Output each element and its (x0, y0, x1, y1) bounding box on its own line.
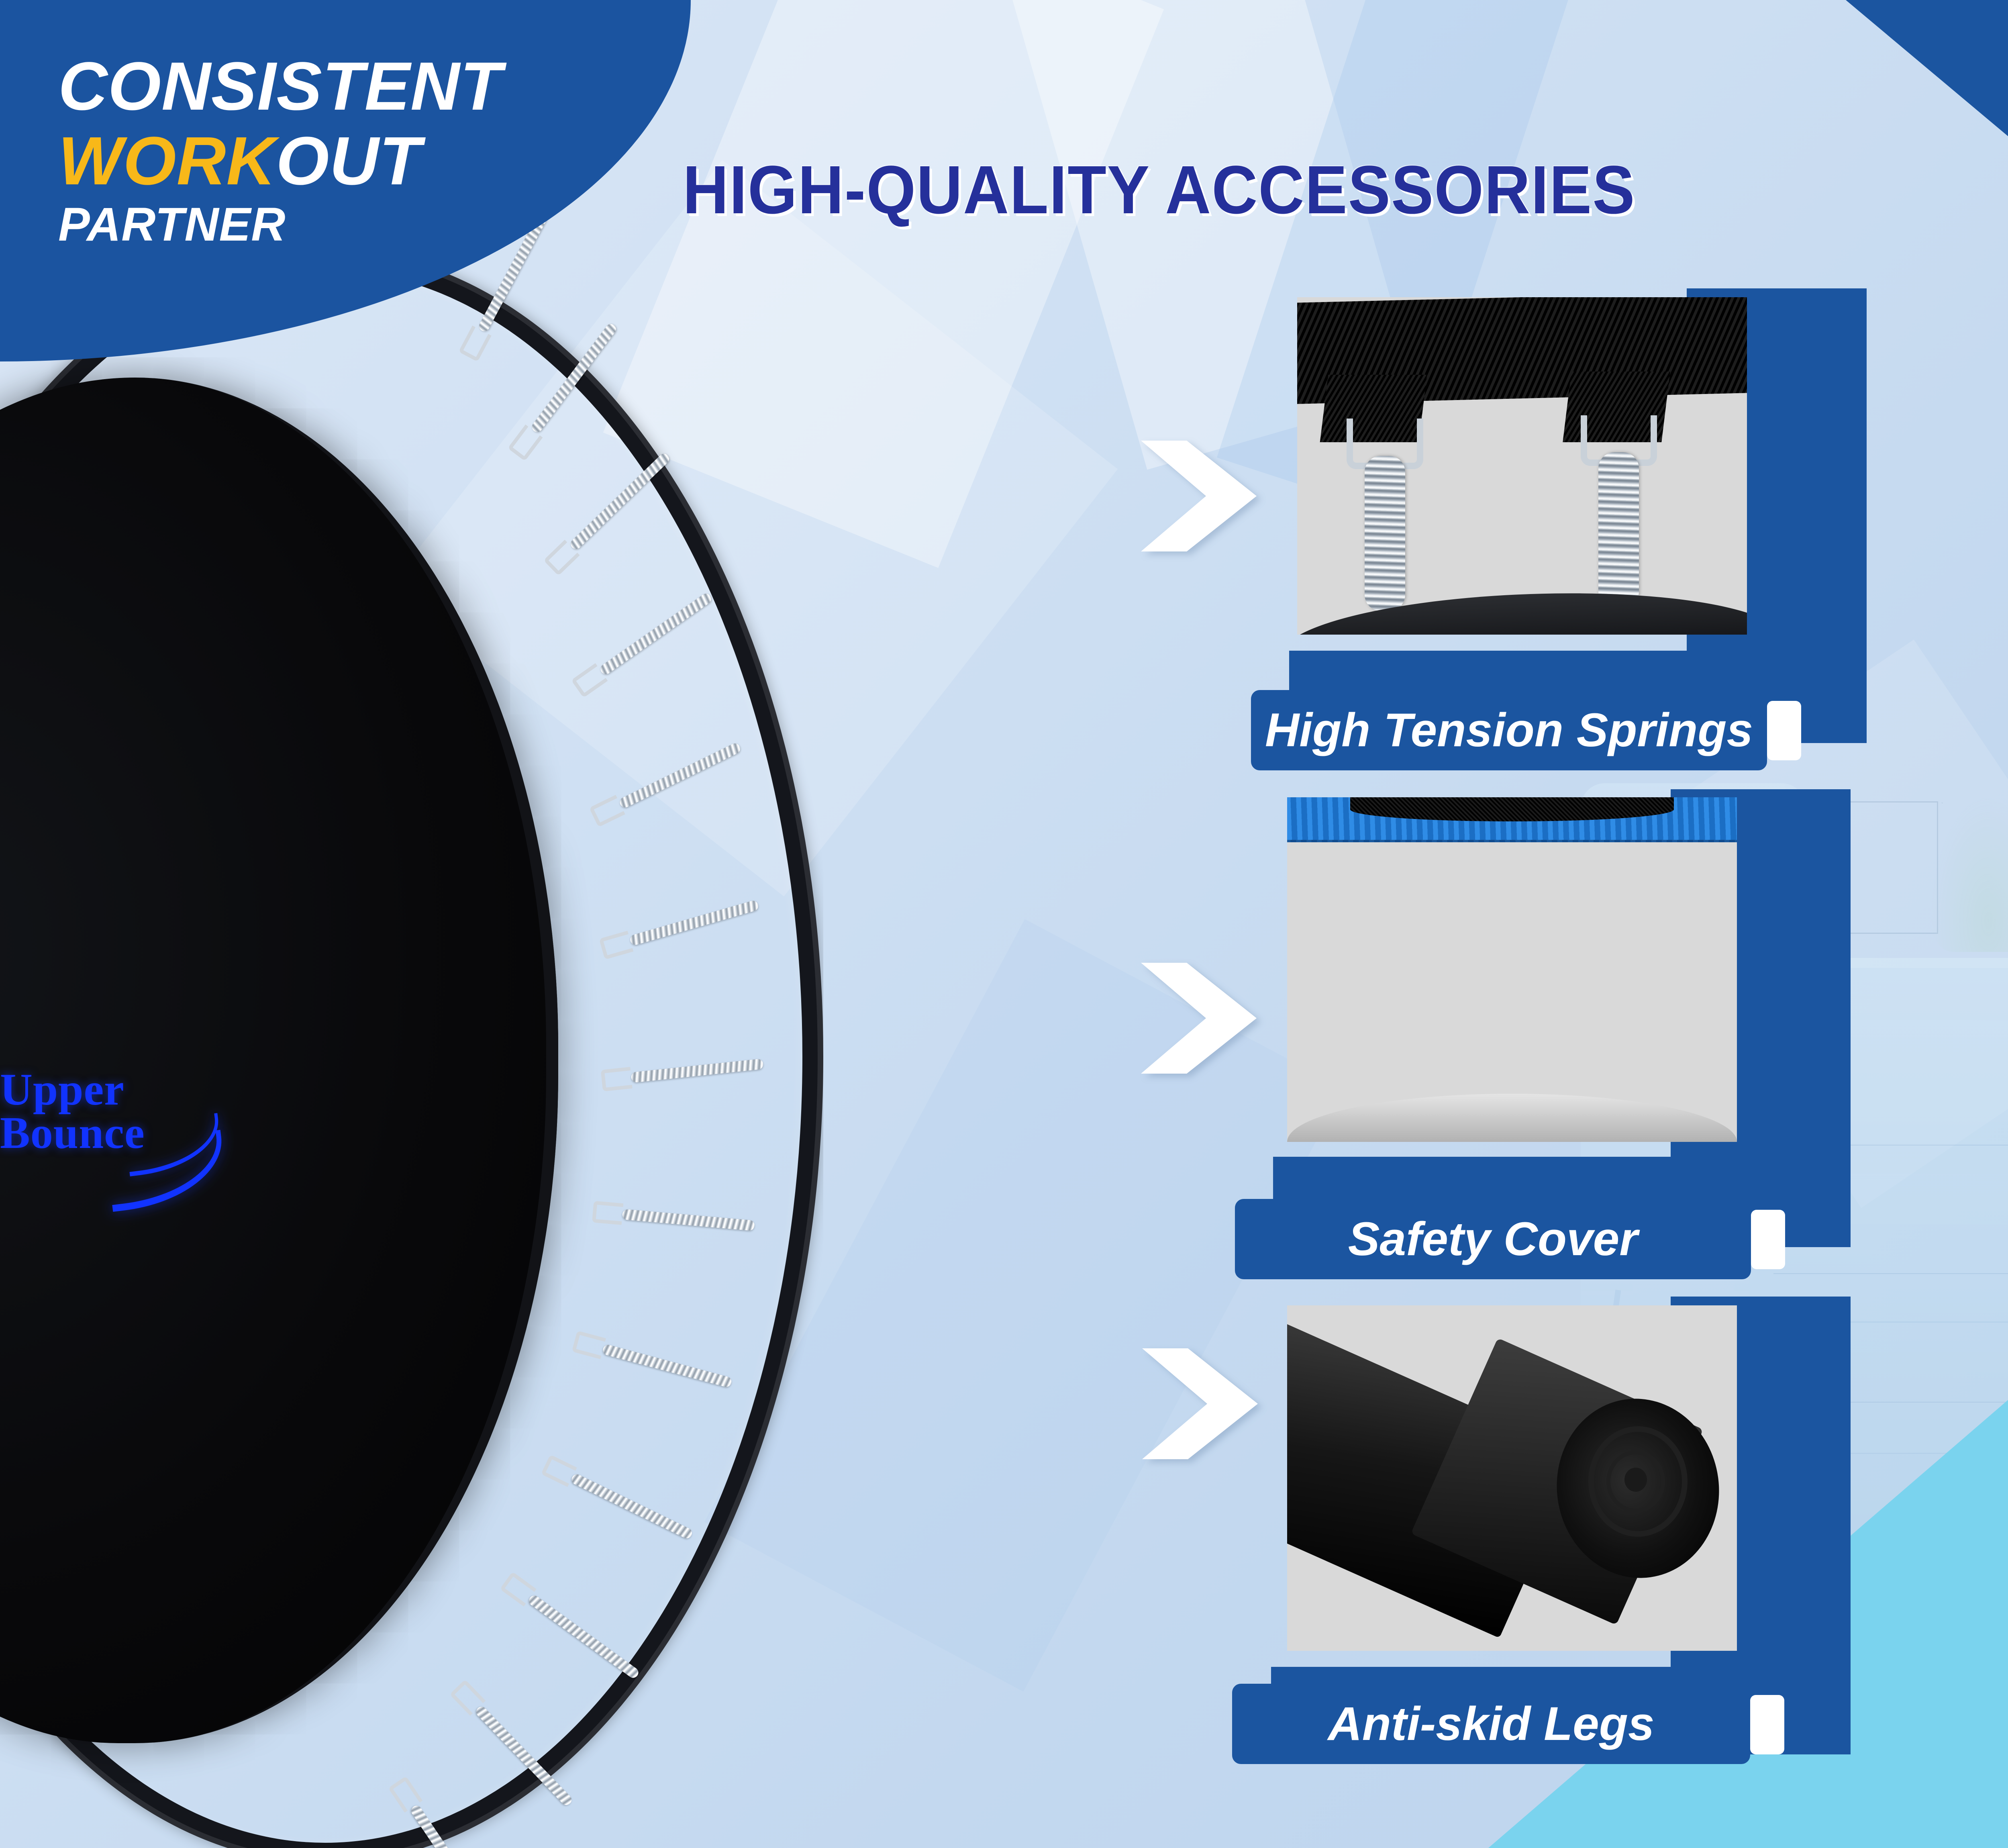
chevron-right-icon (1139, 958, 1259, 1078)
corner-triangle-top-right (1846, 0, 2008, 189)
card-photo-springs (1297, 297, 1747, 635)
product-infographic: Upper Bounce CONSISTENT WORKOUT PARTNER … (0, 0, 2008, 1848)
brand-logo-line1: Upper (0, 1068, 145, 1112)
feature-label-tab (1767, 701, 1801, 760)
badge-line-2-rest: OUT (276, 123, 421, 199)
plant (1930, 795, 2008, 952)
card-photo-cover (1287, 797, 1737, 1142)
badge-line-2-highlight: WORK (58, 123, 276, 199)
feature-label-tab (1751, 1210, 1785, 1269)
feature-label-text: Safety Cover (1348, 1212, 1638, 1266)
chevron-right-icon (1139, 436, 1259, 556)
feature-label-cover: Safety Cover (1235, 1199, 1751, 1279)
badge-line-2: WORKOUT (58, 127, 502, 195)
badge-line-3: PARTNER (58, 201, 502, 248)
badge-line-1: CONSISTENT (58, 52, 502, 120)
feature-label-text: Anti-skid Legs (1328, 1697, 1655, 1751)
chevron-right-icon (1140, 1344, 1260, 1464)
feature-label-legs: Anti-skid Legs (1232, 1684, 1750, 1764)
feature-label-tab (1750, 1695, 1784, 1754)
page-title: HIGH-QUALITY ACCESSORIES (683, 151, 1635, 229)
trampoline-product-photo: Upper Bounce (0, 225, 932, 1848)
feature-label-text: High Tension Springs (1265, 703, 1753, 758)
card-photo-legs (1287, 1305, 1737, 1651)
feature-label-springs: High Tension Springs (1251, 690, 1767, 770)
